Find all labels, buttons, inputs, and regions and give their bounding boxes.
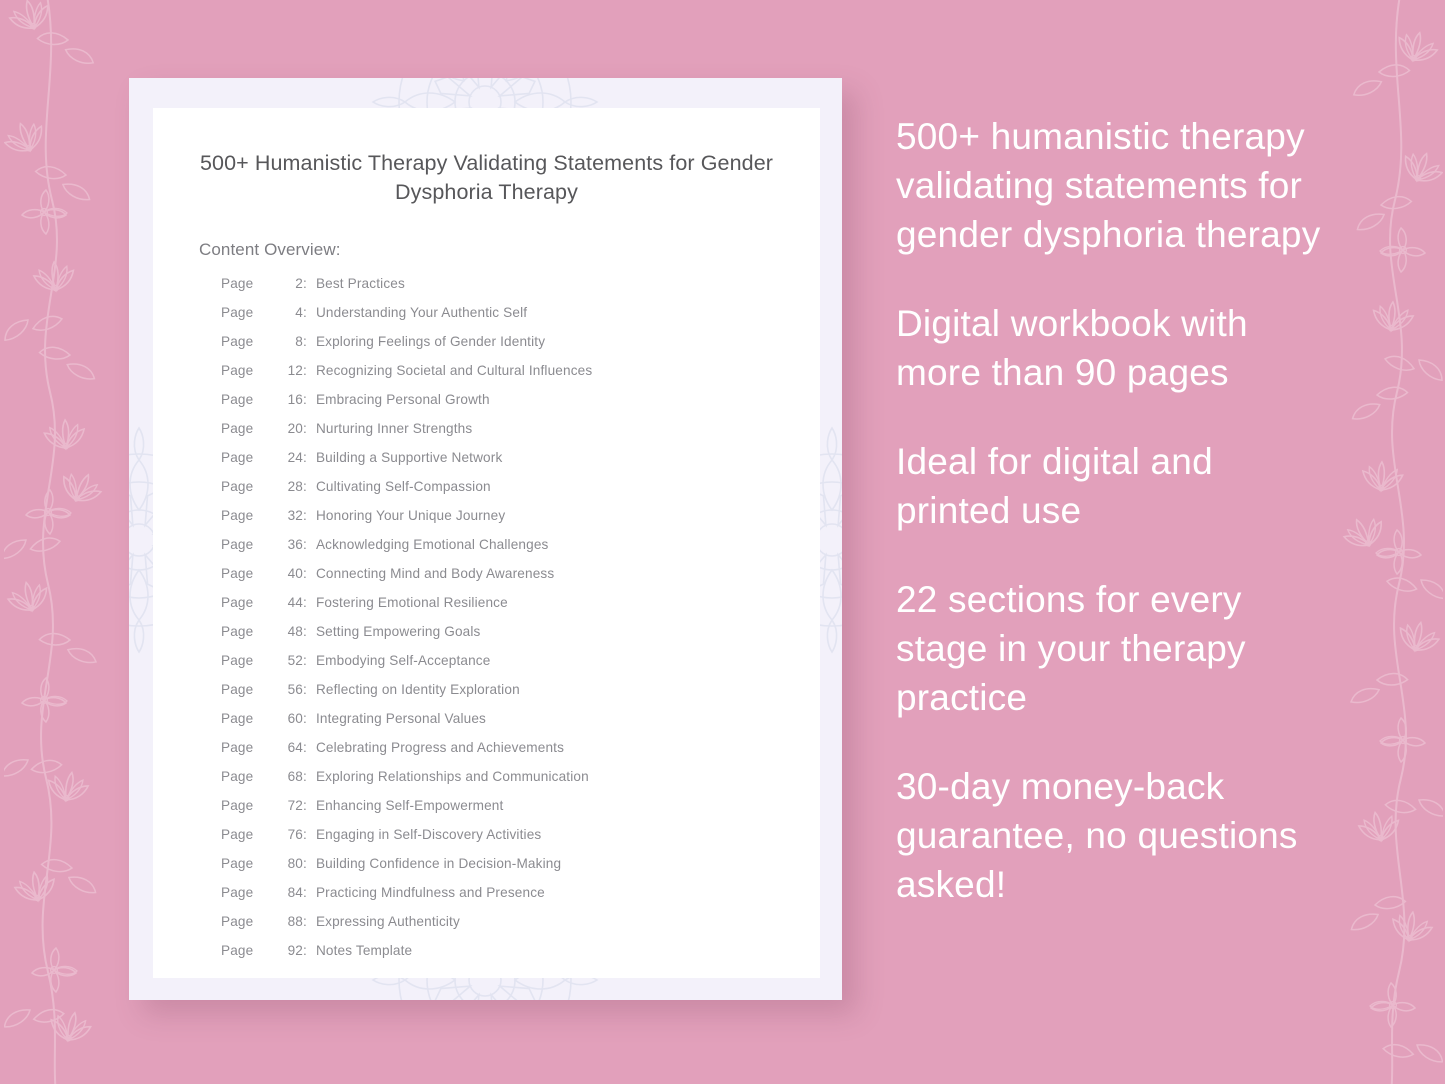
toc-page-number: 16 [277,392,303,407]
table-of-contents-row: Page44:Fostering Emotional Resilience [153,595,820,624]
toc-page-number: 20 [277,421,303,436]
toc-page-word: Page [221,392,277,407]
toc-section-title: Reflecting on Identity Exploration [316,682,820,697]
toc-page-number: 44 [277,595,303,610]
feature-item: Digital workbook with more than 90 pages [896,299,1336,397]
toc-colon: : [303,392,316,407]
feature-item: Ideal for digital and printed use [896,437,1336,535]
toc-section-title: Acknowledging Emotional Challenges [316,537,820,552]
toc-page-word: Page [221,740,277,755]
table-of-contents-row: Page4:Understanding Your Authentic Self [153,305,820,334]
toc-section-title: Exploring Feelings of Gender Identity [316,334,820,349]
toc-section-title: Nurturing Inner Strengths [316,421,820,436]
table-of-contents-row: Page56:Reflecting on Identity Exploratio… [153,682,820,711]
toc-page-number: 60 [277,711,303,726]
toc-section-title: Embracing Personal Growth [316,392,820,407]
toc-colon: : [303,682,316,697]
toc-page-word: Page [221,653,277,668]
toc-page-word: Page [221,798,277,813]
toc-colon: : [303,508,316,523]
toc-page-word: Page [221,885,277,900]
toc-page-number: 84 [277,885,303,900]
toc-section-title: Expressing Authenticity [316,914,820,929]
table-of-contents-row: Page76:Engaging in Self-Discovery Activi… [153,827,820,856]
toc-page-number: 32 [277,508,303,523]
toc-section-title: Building a Supportive Network [316,450,820,465]
table-of-contents: Page2:Best PracticesPage4:Understanding … [153,276,820,972]
toc-section-title: Recognizing Societal and Cultural Influe… [316,363,820,378]
toc-section-title: Enhancing Self-Empowerment [316,798,820,813]
table-of-contents-row: Page12:Recognizing Societal and Cultural… [153,363,820,392]
toc-page-number: 36 [277,537,303,552]
toc-colon: : [303,798,316,813]
toc-colon: : [303,479,316,494]
toc-colon: : [303,914,316,929]
toc-page-word: Page [221,421,277,436]
toc-colon: : [303,943,316,958]
feature-item: 500+ humanistic therapy validating state… [896,112,1336,259]
toc-section-title: Engaging in Self-Discovery Activities [316,827,820,842]
toc-page-number: 52 [277,653,303,668]
toc-page-word: Page [221,305,277,320]
toc-page-number: 64 [277,740,303,755]
toc-page-word: Page [221,508,277,523]
toc-section-title: Fostering Emotional Resilience [316,595,820,610]
toc-colon: : [303,305,316,320]
table-of-contents-row: Page24:Building a Supportive Network [153,450,820,479]
toc-page-word: Page [221,450,277,465]
toc-page-number: 12 [277,363,303,378]
product-preview-card: 500+ Humanistic Therapy Validating State… [129,78,842,1000]
toc-page-word: Page [221,334,277,349]
toc-page-number: 68 [277,769,303,784]
table-of-contents-row: Page36:Acknowledging Emotional Challenge… [153,537,820,566]
table-of-contents-row: Page28:Cultivating Self-Compassion [153,479,820,508]
toc-page-number: 8 [277,334,303,349]
toc-section-title: Setting Empowering Goals [316,624,820,639]
toc-page-word: Page [221,537,277,552]
table-of-contents-row: Page60:Integrating Personal Values [153,711,820,740]
toc-colon: : [303,740,316,755]
toc-page-word: Page [221,595,277,610]
table-of-contents-row: Page8:Exploring Feelings of Gender Ident… [153,334,820,363]
toc-colon: : [303,856,316,871]
table-of-contents-row: Page16:Embracing Personal Growth [153,392,820,421]
toc-section-title: Integrating Personal Values [316,711,820,726]
toc-colon: : [303,769,316,784]
toc-section-title: Honoring Your Unique Journey [316,508,820,523]
toc-section-title: Embodying Self-Acceptance [316,653,820,668]
table-of-contents-row: Page20:Nurturing Inner Strengths [153,421,820,450]
table-of-contents-row: Page48:Setting Empowering Goals [153,624,820,653]
floral-vine-icon-right [1323,0,1443,1084]
toc-colon: : [303,334,316,349]
table-of-contents-row: Page72:Enhancing Self-Empowerment [153,798,820,827]
toc-page-number: 56 [277,682,303,697]
toc-section-title: Exploring Relationships and Communicatio… [316,769,820,784]
toc-page-word: Page [221,566,277,581]
toc-page-number: 24 [277,450,303,465]
toc-page-number: 40 [277,566,303,581]
toc-colon: : [303,537,316,552]
toc-page-number: 28 [277,479,303,494]
toc-colon: : [303,595,316,610]
toc-page-word: Page [221,827,277,842]
toc-colon: : [303,276,316,291]
table-of-contents-row: Page68:Exploring Relationships and Commu… [153,769,820,798]
toc-section-title: Cultivating Self-Compassion [316,479,820,494]
toc-page-number: 72 [277,798,303,813]
feature-item: 30-day money-back guarantee, no question… [896,762,1336,909]
toc-page-number: 88 [277,914,303,929]
feature-list: 500+ humanistic therapy validating state… [896,112,1336,909]
toc-colon: : [303,711,316,726]
table-of-contents-row: Page2:Best Practices [153,276,820,305]
floral-vine-icon-left [4,0,124,1084]
toc-section-title: Celebrating Progress and Achievements [316,740,820,755]
table-of-contents-row: Page80:Building Confidence in Decision-M… [153,856,820,885]
toc-colon: : [303,363,316,378]
toc-section-title: Understanding Your Authentic Self [316,305,820,320]
toc-page-word: Page [221,856,277,871]
toc-colon: : [303,653,316,668]
content-overview-label: Content Overview: [199,240,820,260]
table-of-contents-row: Page84:Practicing Mindfulness and Presen… [153,885,820,914]
table-of-contents-row: Page32:Honoring Your Unique Journey [153,508,820,537]
toc-page-word: Page [221,711,277,726]
table-of-contents-row: Page52:Embodying Self-Acceptance [153,653,820,682]
toc-page-word: Page [221,769,277,784]
table-of-contents-row: Page40:Connecting Mind and Body Awarenes… [153,566,820,595]
toc-section-title: Connecting Mind and Body Awareness [316,566,820,581]
toc-colon: : [303,566,316,581]
toc-page-word: Page [221,682,277,697]
toc-page-number: 76 [277,827,303,842]
toc-page-word: Page [221,914,277,929]
page-title: 500+ Humanistic Therapy Validating State… [199,149,774,207]
toc-page-number: 4 [277,305,303,320]
table-of-contents-row: Page64:Celebrating Progress and Achievem… [153,740,820,769]
toc-page-word: Page [221,479,277,494]
toc-page-word: Page [221,943,277,958]
toc-page-number: 92 [277,943,303,958]
toc-colon: : [303,827,316,842]
toc-page-number: 80 [277,856,303,871]
toc-page-word: Page [221,363,277,378]
toc-colon: : [303,421,316,436]
table-of-contents-row: Page88:Expressing Authenticity [153,914,820,943]
document-page: 500+ Humanistic Therapy Validating State… [153,108,820,978]
toc-page-number: 48 [277,624,303,639]
toc-page-word: Page [221,276,277,291]
toc-page-number: 2 [277,276,303,291]
toc-section-title: Best Practices [316,276,820,291]
toc-section-title: Notes Template [316,943,820,958]
feature-item: 22 sections for every stage in your ther… [896,575,1336,722]
toc-page-word: Page [221,624,277,639]
toc-section-title: Building Confidence in Decision-Making [316,856,820,871]
toc-colon: : [303,450,316,465]
table-of-contents-row: Page92:Notes Template [153,943,820,972]
toc-colon: : [303,885,316,900]
toc-colon: : [303,624,316,639]
toc-section-title: Practicing Mindfulness and Presence [316,885,820,900]
